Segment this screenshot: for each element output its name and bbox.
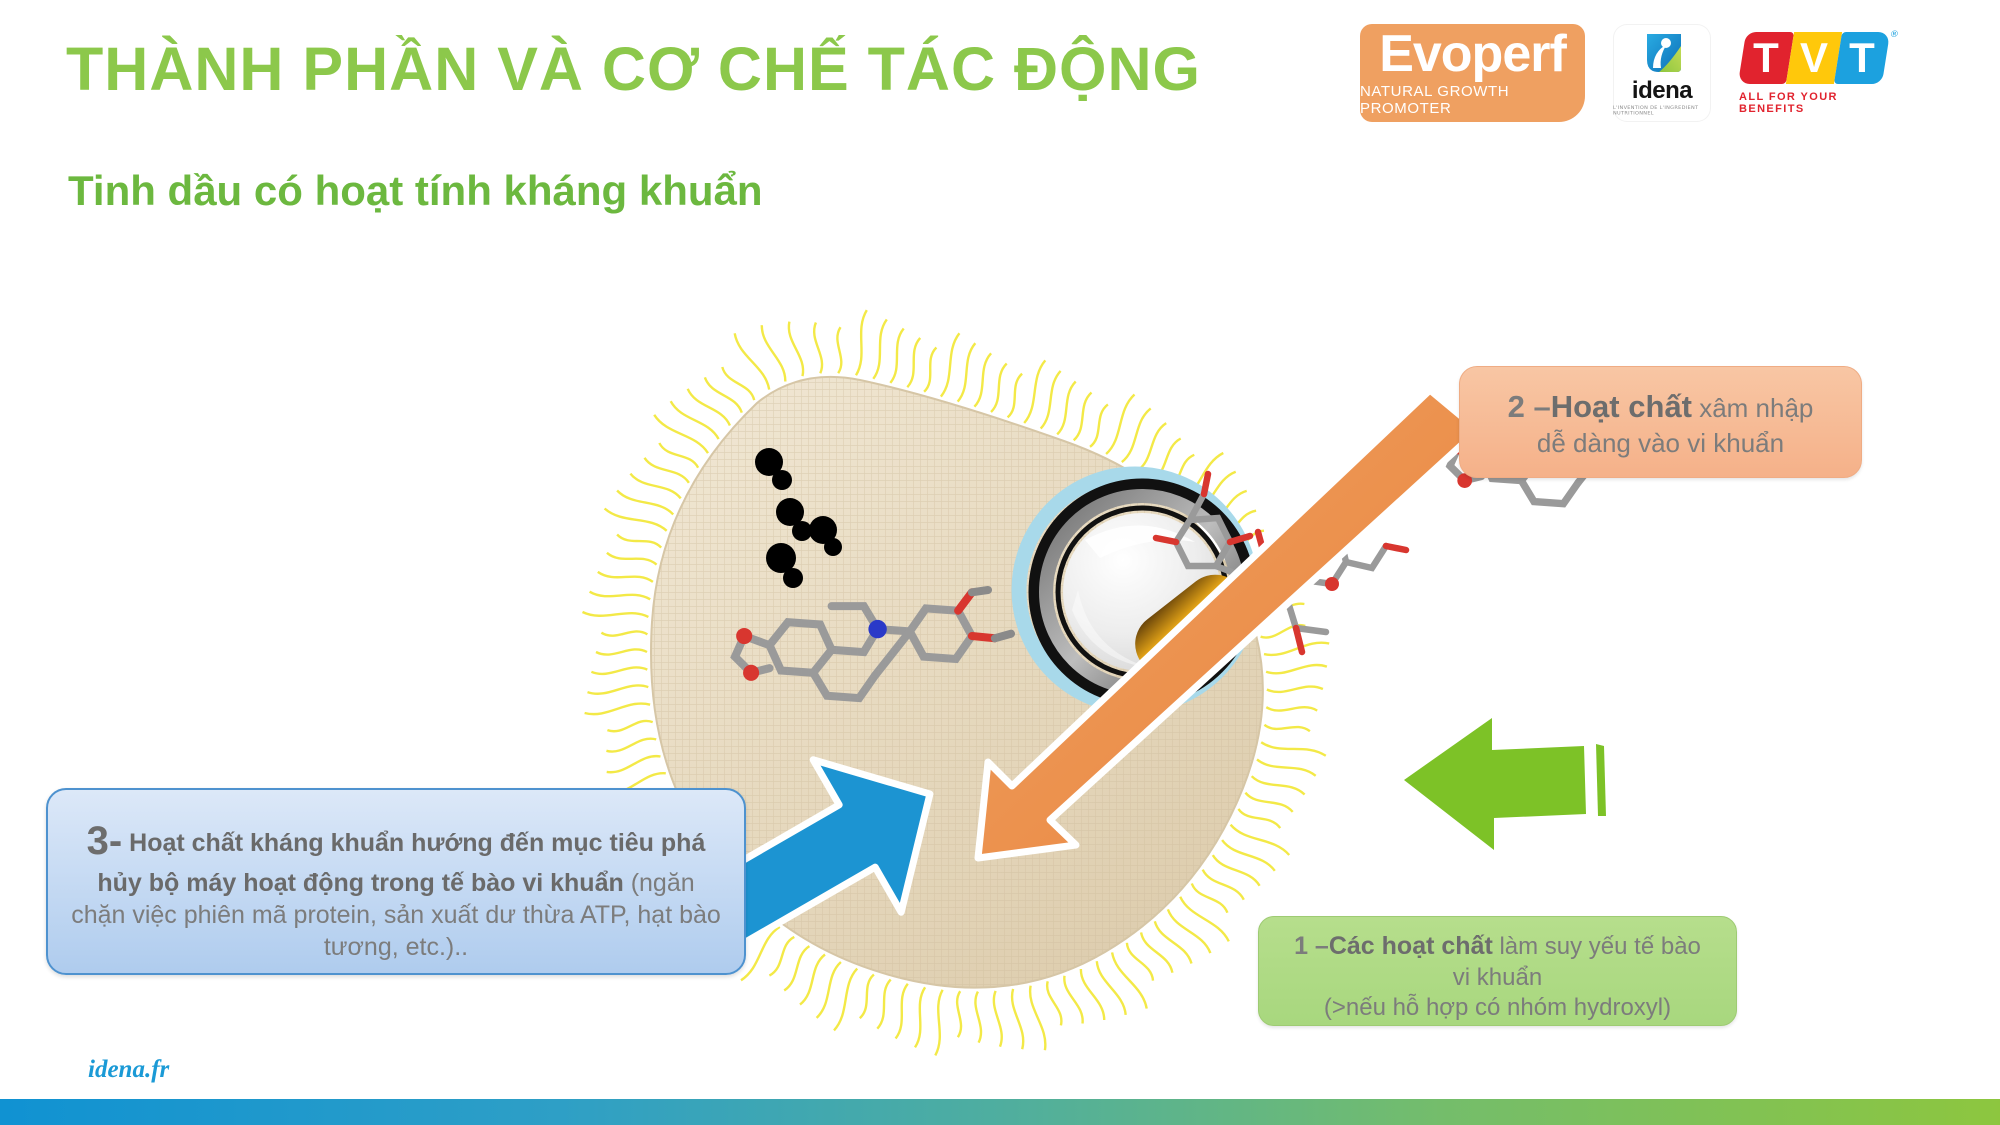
slide-root: THÀNH PHẦN VÀ CƠ CHẾ TÁC ĐỘNG Tinh dầu c… bbox=[0, 0, 2000, 1125]
pilus bbox=[784, 946, 809, 990]
pilus bbox=[1074, 393, 1092, 441]
pilus bbox=[1168, 909, 1211, 953]
pilus bbox=[873, 319, 887, 378]
idena-mark-icon bbox=[1639, 30, 1685, 76]
pilus bbox=[1122, 408, 1151, 462]
callout-2-line2: dễ dàng vào vi khuẩn bbox=[1537, 428, 1784, 458]
pilus bbox=[591, 667, 647, 674]
callout-1-rest: làm suy yếu tế bào bbox=[1493, 933, 1701, 960]
pilus bbox=[896, 984, 908, 1039]
pilus bbox=[1231, 825, 1290, 855]
pilus bbox=[607, 756, 661, 772]
pilus bbox=[1106, 395, 1134, 455]
pilus bbox=[1041, 371, 1061, 429]
pilus bbox=[1008, 374, 1023, 418]
pilus bbox=[1047, 981, 1061, 1025]
pilus bbox=[1081, 969, 1104, 1020]
pilus bbox=[583, 612, 649, 617]
tvt-segment-2: V bbox=[1786, 32, 1842, 84]
pilus bbox=[1238, 809, 1280, 828]
page-title: THÀNH PHẦN VÀ CƠ CHẾ TÁC ĐỘNG bbox=[66, 34, 1201, 104]
pilus bbox=[907, 338, 920, 387]
pilus bbox=[769, 937, 794, 976]
pilus bbox=[1264, 643, 1329, 655]
pilus bbox=[1222, 840, 1275, 871]
pilus bbox=[1245, 793, 1292, 812]
pilus bbox=[1257, 759, 1316, 775]
callout-box-2[interactable]: 2 –Hoạt chất xâm nhập dễ dàng vào vi khu… bbox=[1459, 366, 1862, 478]
pilus bbox=[1030, 986, 1045, 1050]
callout-box-3[interactable]: 3- Hoạt chất kháng khuẩn hướng đến mục t… bbox=[46, 788, 746, 975]
evoperf-tagline: NATURAL GROWTH PROMOTER bbox=[1360, 83, 1585, 117]
callout-1-number: 1 – bbox=[1294, 932, 1329, 960]
pilus bbox=[924, 348, 936, 392]
pilus bbox=[1112, 952, 1147, 1008]
tvt-letter-1: T bbox=[1742, 32, 1790, 84]
pilus bbox=[1267, 687, 1323, 692]
pilus bbox=[606, 739, 656, 752]
callout-3-number: 3- bbox=[87, 819, 123, 863]
pilus bbox=[1137, 423, 1166, 471]
footer-link[interactable]: idena.fr bbox=[88, 1056, 169, 1084]
pilus bbox=[762, 325, 786, 381]
callout-1-line3: (>nếu hỗ hợp có nhóm hydroxyl) bbox=[1324, 994, 1671, 1021]
pilus bbox=[645, 458, 689, 483]
pilus bbox=[957, 991, 961, 1037]
pilus bbox=[598, 572, 653, 582]
pilus bbox=[1266, 665, 1327, 673]
green-arrow[interactable] bbox=[1404, 718, 1606, 850]
pilus bbox=[994, 991, 1002, 1047]
pilus bbox=[735, 333, 770, 389]
pilus bbox=[1252, 776, 1305, 794]
pilus bbox=[817, 962, 841, 1018]
pilus bbox=[1155, 921, 1192, 963]
idena-wordmark: idena bbox=[1632, 79, 1692, 103]
pilus bbox=[1057, 382, 1076, 435]
callout-2-bold: Hoạt chất bbox=[1551, 389, 1692, 424]
pilus bbox=[590, 592, 651, 600]
pilus bbox=[607, 721, 652, 731]
pilus bbox=[800, 955, 825, 1005]
pilus bbox=[588, 685, 649, 693]
pilus bbox=[935, 990, 942, 1056]
pilus bbox=[814, 323, 822, 374]
pilus bbox=[860, 975, 874, 1019]
pilus bbox=[659, 443, 698, 468]
pilus bbox=[601, 631, 647, 635]
pilus bbox=[617, 535, 661, 548]
tvt-segment-1: T bbox=[1738, 32, 1794, 84]
pilus bbox=[837, 327, 841, 373]
callout-box-1[interactable]: 1 –Các hoạt chất làm suy yếu tế bào vi k… bbox=[1258, 916, 1737, 1026]
tvt-segment-3: T ® bbox=[1834, 32, 1890, 84]
tvt-wordmark: T V T ® bbox=[1742, 32, 1886, 84]
evoperf-brand-text: Evoperf bbox=[1379, 31, 1566, 79]
pilus bbox=[856, 310, 867, 375]
pilus bbox=[722, 367, 754, 400]
callout-2-rest: xâm nhập bbox=[1692, 393, 1813, 423]
pilus bbox=[1261, 742, 1326, 756]
pilus bbox=[585, 704, 651, 715]
idena-subtext: L'INVENTION DE L'INGREDIENT NUTRITIONNEL bbox=[1613, 105, 1711, 116]
pilus bbox=[1024, 360, 1045, 423]
tvt-letter-2: V bbox=[1790, 32, 1838, 84]
registered-mark-icon: ® bbox=[1889, 30, 1900, 40]
tvt-logo: T V T ® ALL FOR YOUR BENEFITS bbox=[1739, 24, 1889, 122]
pilus bbox=[1192, 884, 1228, 913]
evoperf-logo: Evoperf NATURAL GROWTH PROMOTER bbox=[1360, 24, 1585, 122]
pilus bbox=[1203, 870, 1244, 900]
pilus bbox=[975, 992, 981, 1043]
pilus bbox=[834, 969, 857, 1031]
pilus bbox=[974, 353, 991, 406]
pilus bbox=[890, 329, 903, 383]
pilus bbox=[607, 553, 657, 565]
pilus bbox=[1012, 989, 1023, 1049]
callout-1-line2: vi khuẩn bbox=[1453, 964, 1542, 991]
pilus bbox=[991, 364, 1007, 413]
logo-strip: Evoperf NATURAL GROWTH PROMOTER bbox=[1360, 24, 1889, 144]
pilus bbox=[630, 474, 680, 499]
pilus bbox=[1064, 976, 1082, 1024]
callout-1-bold: Các hoạt chất bbox=[1329, 932, 1493, 960]
idena-logo: idena L'INVENTION DE L'INGREDIENT NUTRIT… bbox=[1613, 24, 1711, 122]
pilus bbox=[941, 333, 960, 396]
pilus bbox=[1266, 707, 1317, 710]
pilus bbox=[1127, 943, 1153, 981]
pilus bbox=[958, 343, 976, 401]
pilus bbox=[789, 322, 803, 377]
pilus bbox=[1090, 404, 1108, 446]
pilus bbox=[877, 980, 890, 1029]
pilus bbox=[915, 987, 925, 1047]
tvt-tagline: ALL FOR YOUR BENEFITS bbox=[1739, 91, 1889, 115]
tvt-letter-3: T bbox=[1838, 32, 1886, 84]
callout-3-bold: Hoạt chất kháng khuẩn hướng đến mục tiêu… bbox=[97, 829, 705, 897]
footer-gradient-bar bbox=[0, 1099, 2000, 1125]
pilus bbox=[617, 491, 673, 515]
pilus bbox=[596, 649, 647, 654]
pilus bbox=[1213, 855, 1260, 886]
callout-2-number: 2 – bbox=[1508, 389, 1551, 424]
pilus bbox=[605, 509, 667, 531]
pilus bbox=[1264, 725, 1310, 731]
